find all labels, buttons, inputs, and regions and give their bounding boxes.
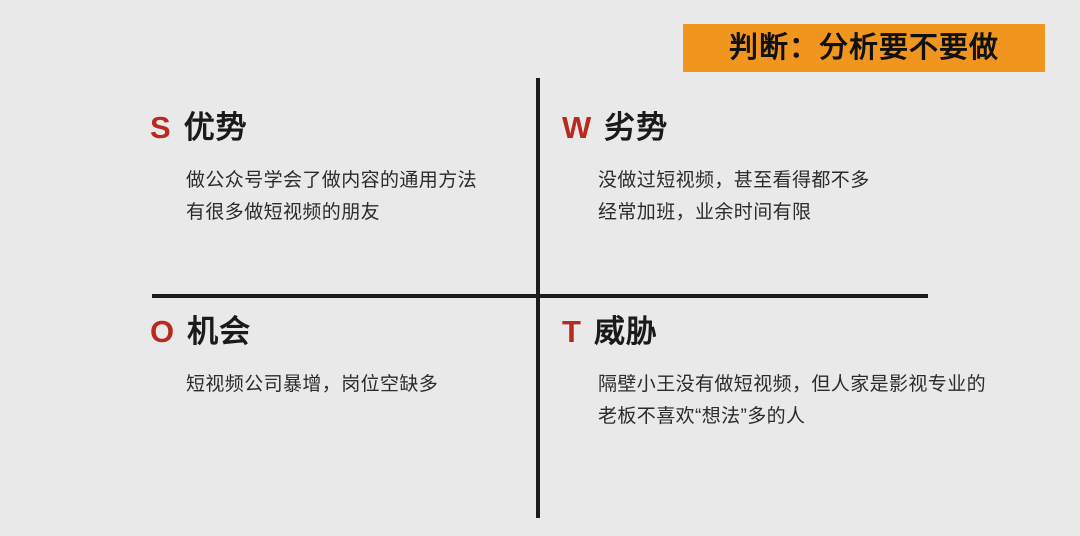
quadrant-heading-threats: T 威胁 (562, 316, 1042, 347)
quadrant-title-strengths: 优势 (184, 112, 248, 143)
body-line: 做公众号学会了做内容的通用方法 (186, 165, 530, 197)
body-line: 短视频公司暴增，岗位空缺多 (186, 369, 530, 401)
body-line: 隔壁小王没有做短视频，但人家是影视专业的 (598, 369, 1042, 401)
page-title: 判断：分析要不要做 (729, 34, 999, 63)
quadrant-heading-strengths: S 优势 (150, 112, 530, 143)
body-line: 老板不喜欢“想法”多的人 (598, 401, 1042, 433)
body-line: 经常加班，业余时间有限 (598, 197, 1042, 229)
quadrant-weaknesses: W 劣势 没做过短视频，甚至看得都不多 经常加班，业余时间有限 (562, 112, 1042, 229)
quadrant-letter-s: S (150, 112, 171, 143)
quadrant-body-strengths: 做公众号学会了做内容的通用方法 有很多做短视频的朋友 (186, 165, 530, 229)
quadrant-letter-o: O (150, 316, 174, 347)
title-banner: 判断：分析要不要做 (683, 24, 1045, 72)
quadrant-letter-w: W (562, 112, 591, 143)
quadrant-title-threats: 威胁 (594, 316, 658, 347)
quadrant-heading-weaknesses: W 劣势 (562, 112, 1042, 143)
quadrant-title-weaknesses: 劣势 (604, 112, 668, 143)
quadrant-opportunities: O 机会 短视频公司暴增，岗位空缺多 (150, 316, 530, 401)
quadrant-letter-t: T (562, 316, 581, 347)
quadrant-title-opportunities: 机会 (187, 316, 251, 347)
vertical-divider (536, 78, 540, 518)
quadrant-body-weaknesses: 没做过短视频，甚至看得都不多 经常加班，业余时间有限 (598, 165, 1042, 229)
body-line: 没做过短视频，甚至看得都不多 (598, 165, 1042, 197)
quadrant-strengths: S 优势 做公众号学会了做内容的通用方法 有很多做短视频的朋友 (150, 112, 530, 229)
body-line: 有很多做短视频的朋友 (186, 197, 530, 229)
quadrant-heading-opportunities: O 机会 (150, 316, 530, 347)
quadrant-body-opportunities: 短视频公司暴增，岗位空缺多 (186, 369, 530, 401)
horizontal-divider (152, 294, 928, 298)
swot-slide: 判断：分析要不要做 S 优势 做公众号学会了做内容的通用方法 有很多做短视频的朋… (0, 0, 1080, 536)
quadrant-body-threats: 隔壁小王没有做短视频，但人家是影视专业的 老板不喜欢“想法”多的人 (598, 369, 1042, 433)
quadrant-threats: T 威胁 隔壁小王没有做短视频，但人家是影视专业的 老板不喜欢“想法”多的人 (562, 316, 1042, 433)
